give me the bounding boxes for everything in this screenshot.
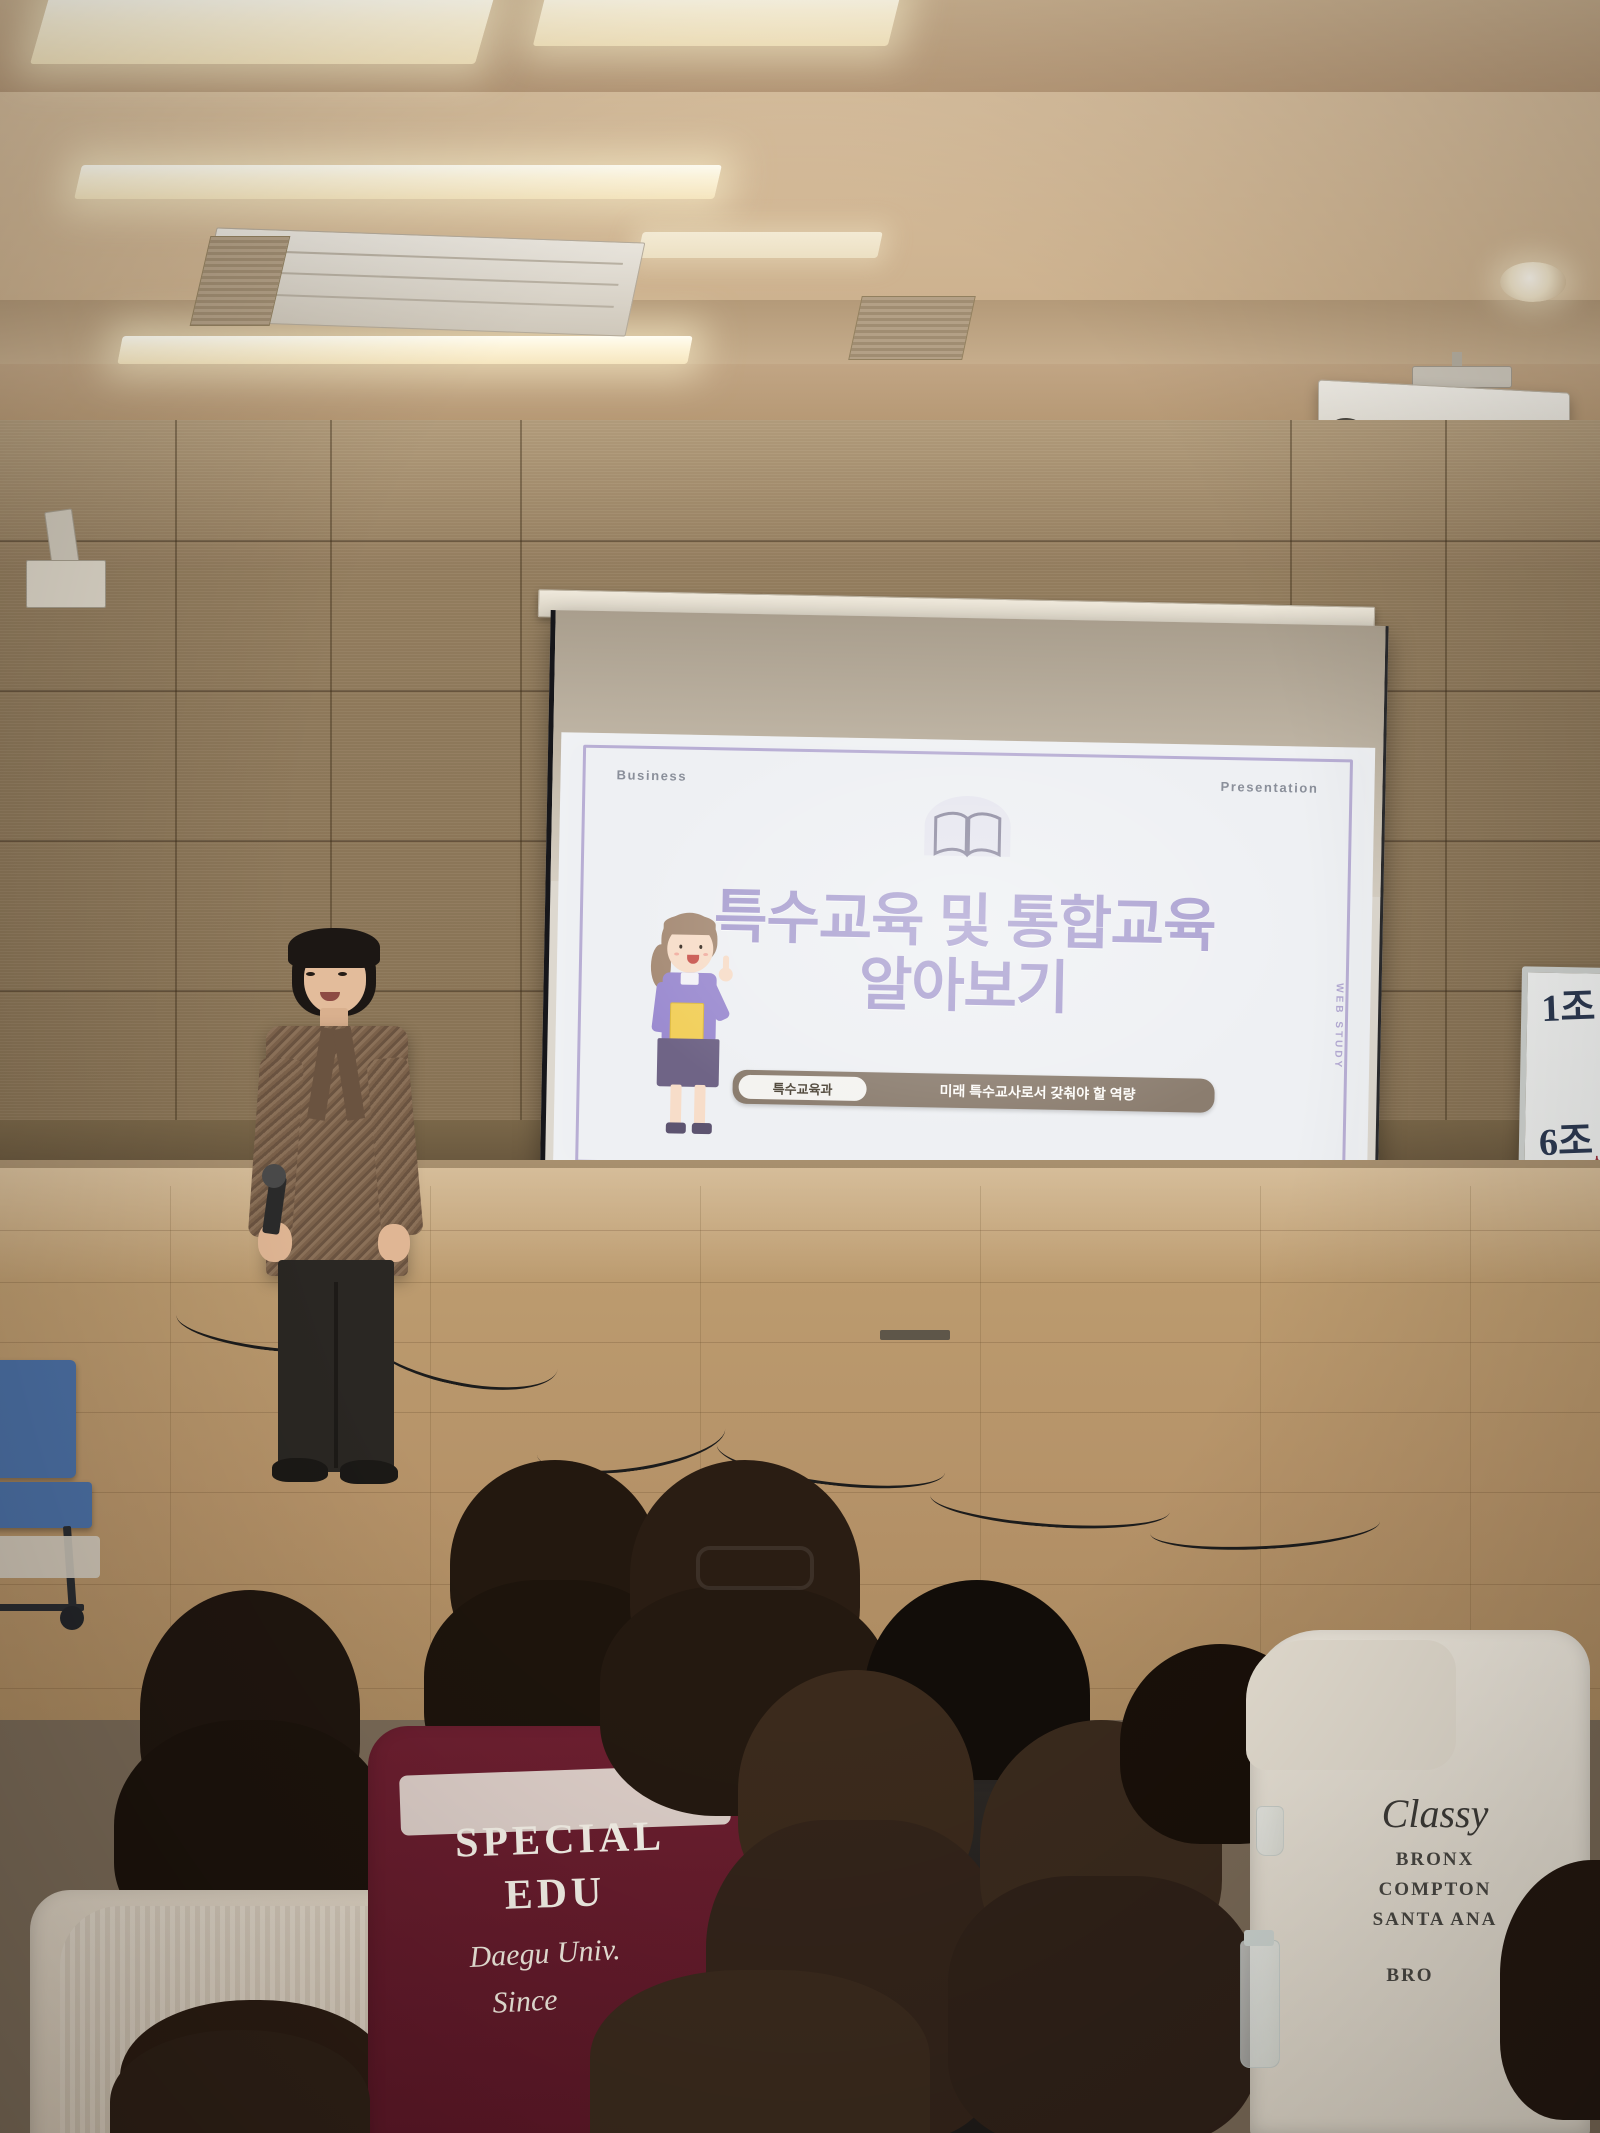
wall-speaker-plate (26, 560, 106, 608)
audience-member (590, 1970, 930, 2133)
ceiling-downlight (1500, 262, 1566, 302)
presenter (248, 930, 428, 1520)
presenter-hand-right (378, 1224, 410, 1262)
eyeglasses (696, 1546, 814, 1590)
water-bottle (1240, 1940, 1280, 2068)
hoodie-hood (1246, 1640, 1456, 1770)
audience-member (1500, 1860, 1600, 2133)
presentation-slide: Business Presentation (553, 732, 1375, 1188)
open-book-icon (931, 807, 1004, 860)
hoodie-line-4: BRO (1320, 1964, 1500, 1988)
ceiling-grille (848, 296, 976, 360)
audience-member (110, 2030, 370, 2133)
slide-title: 특수교육 및 통합교육 알아보기 (556, 882, 1372, 1028)
microphone-head (262, 1164, 286, 1188)
water-bottle (1256, 1806, 1284, 1856)
ceiling-light-strip (533, 0, 902, 46)
slide-subtitle: 미래 특수교사로서 갖춰야 할 역량 (866, 1079, 1208, 1106)
floor-cable-port (880, 1330, 950, 1340)
lecture-hall-photo: EPSON Business Presentatio (0, 0, 1600, 2133)
slide-header-left: Business (616, 767, 687, 783)
slide-header-right: Presentation (1220, 779, 1318, 796)
ceiling-light-strip (117, 336, 692, 364)
whiteboard-note-1: 1조 (1541, 988, 1596, 1030)
water-bottle-cap (1244, 1930, 1274, 1946)
hoodie-script-text: Classy (1310, 1790, 1560, 1837)
slide-department-chip: 특수교육과 (738, 1075, 866, 1101)
ceiling-light-strip (74, 165, 722, 199)
projection-screen: Business Presentation (539, 610, 1388, 1216)
slide-side-vertical-text: WEB STUDY (1332, 983, 1345, 1070)
whiteboard-note-2: 6조 (1538, 1122, 1593, 1164)
ceiling-light-strip (30, 0, 495, 64)
ceiling-light-strip (637, 232, 883, 258)
